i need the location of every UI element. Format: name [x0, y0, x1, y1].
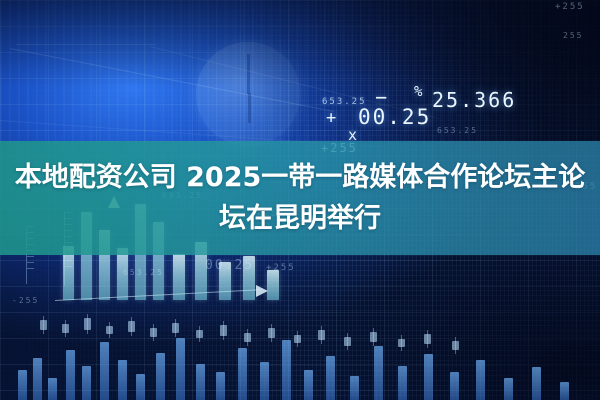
- overlay-number: 25.366: [432, 88, 516, 112]
- overlay-number: +255: [266, 263, 296, 273]
- background-chart-bar: [48, 378, 57, 400]
- image-canvas: 653.25−%25.366+00.25x+255653.25+25525500…: [0, 0, 600, 400]
- background-chart-bar: [304, 370, 313, 400]
- background-chart-bar: [136, 374, 145, 400]
- candlestick-body: [268, 328, 275, 338]
- chart-bar: [267, 270, 279, 300]
- candlestick-body: [220, 325, 227, 336]
- candlestick-row: [0, 300, 600, 360]
- overlay-number: -255: [12, 296, 39, 305]
- background-chart-bar: [450, 372, 459, 400]
- background-chart-bar: [424, 354, 433, 400]
- overlay-number: +255: [555, 2, 585, 12]
- background-chart-bar: [504, 378, 513, 400]
- background-chart-bar: [33, 358, 42, 400]
- background-chart-bar: [156, 353, 165, 400]
- candlestick-body: [424, 334, 431, 344]
- overlay-number: 653.25: [437, 126, 478, 135]
- background-chart-bar: [532, 367, 541, 400]
- candlestick-body: [344, 337, 351, 346]
- candlestick-body: [398, 339, 405, 347]
- background-chart-bar: [476, 360, 485, 400]
- candlestick-body: [196, 330, 203, 338]
- background-chart-bar: [398, 366, 407, 400]
- background-chart-bar: [82, 366, 91, 400]
- candlestick-body: [452, 341, 459, 350]
- background-chart-bar: [118, 360, 127, 400]
- candlestick-body: [150, 328, 157, 337]
- background-chart-bar: [560, 382, 569, 400]
- background-chart-bar: [326, 356, 335, 400]
- candlestick-body: [172, 323, 179, 333]
- candlestick-body: [40, 320, 47, 330]
- background-chart-bar: [350, 376, 359, 400]
- overlay-number: +: [326, 108, 338, 128]
- background-chart-bar: [196, 364, 205, 400]
- headline-line-2: 坛在昆明举行: [219, 198, 381, 239]
- candlestick-body: [106, 326, 113, 334]
- overlay-number: 00.25: [205, 258, 254, 273]
- background-chart-bar: [18, 370, 27, 400]
- candlestick-body: [318, 330, 325, 340]
- overlay-number: 00.25: [358, 105, 431, 129]
- chart-axis-arrow-icon: [256, 285, 268, 297]
- overlay-number: 653.25: [123, 268, 164, 277]
- candlestick-body: [84, 318, 91, 330]
- background-chart-bar: [260, 362, 269, 400]
- overlay-number: 255: [563, 31, 583, 40]
- overlay-number: %: [414, 84, 424, 100]
- candlestick-body: [294, 335, 301, 343]
- headline-banner: 本地配资公司 2025一带一路媒体合作论坛主论 坛在昆明举行: [0, 141, 600, 255]
- candlestick-body: [370, 332, 377, 342]
- headline-line-1: 本地配资公司 2025一带一路媒体合作论坛主论: [15, 157, 586, 198]
- candlestick-body: [244, 333, 251, 342]
- background-chart-bar: [216, 372, 225, 400]
- candlestick-body: [62, 324, 69, 333]
- candlestick-body: [128, 321, 135, 332]
